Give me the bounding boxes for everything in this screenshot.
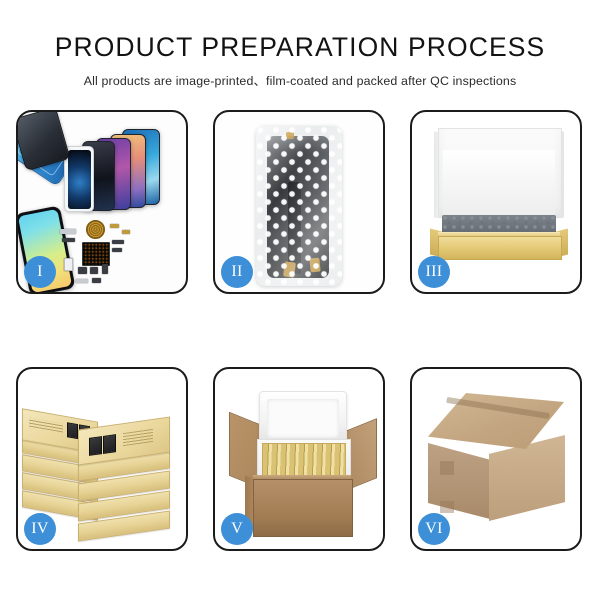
part-gold-clip-icon: [122, 230, 130, 234]
step-panel-3: III: [410, 110, 582, 294]
box-front-panel-icon: [438, 236, 562, 260]
steps-grid: I II: [16, 110, 584, 551]
foam-lid-icon: [259, 391, 347, 445]
part-button-icon: [102, 264, 108, 274]
carton-face-left-icon: [428, 443, 490, 519]
box-label-text-icon: [29, 418, 63, 433]
part-camera-icon: [78, 267, 87, 274]
white-foam-icon: [443, 150, 555, 216]
part-bracket-icon: [62, 238, 75, 242]
chip-grid-icon: [82, 242, 110, 266]
step-panel-2: II: [213, 110, 385, 294]
step-panel-4: IV: [16, 367, 188, 551]
step-badge-2: II: [221, 256, 253, 288]
step-panel-5: V: [213, 367, 385, 551]
carton-tab-upper-icon: [440, 461, 454, 475]
box-window-4-icon: [103, 434, 116, 454]
part-gold-flex-icon: [110, 224, 119, 228]
page-title: PRODUCT PREPARATION PROCESS: [0, 34, 600, 62]
part-speaker-icon: [90, 267, 98, 274]
part-sim-tray-icon: [64, 258, 73, 271]
header: PRODUCT PREPARATION PROCESS All products…: [0, 34, 600, 89]
part-rail-icon: [112, 240, 124, 244]
packed-yellow-boxes-icon: [262, 443, 346, 479]
step-badge-3: III: [418, 256, 450, 288]
carton-body-icon: [253, 479, 353, 537]
part-connector-icon: [60, 229, 76, 234]
part-screw-strip-icon: [76, 279, 88, 283]
box-window-1-icon: [67, 422, 78, 439]
box-window-3-icon: [89, 436, 102, 456]
bubble-wrap-package-icon: [256, 126, 342, 286]
step-badge-5: V: [221, 513, 253, 545]
part-rail-2-icon: [112, 248, 122, 252]
carton-face-right-icon: [489, 435, 565, 521]
carton-tab-lower-icon: [440, 501, 454, 513]
part-small-chip-icon: [92, 278, 101, 283]
step-panel-6: VI: [410, 367, 582, 551]
step-badge-1: I: [24, 256, 56, 288]
box-label-text-2-icon: [123, 428, 153, 446]
copper-coil-icon: [86, 220, 105, 239]
plastic-sheen-icon: [256, 126, 342, 286]
step-badge-4: IV: [24, 513, 56, 545]
step-badge-6: VI: [418, 513, 450, 545]
step-panel-1: I: [16, 110, 188, 294]
page-subtitle: All products are image-printed、film-coat…: [0, 71, 600, 89]
product-preparation-infographic: PRODUCT PREPARATION PROCESS All products…: [0, 0, 600, 600]
